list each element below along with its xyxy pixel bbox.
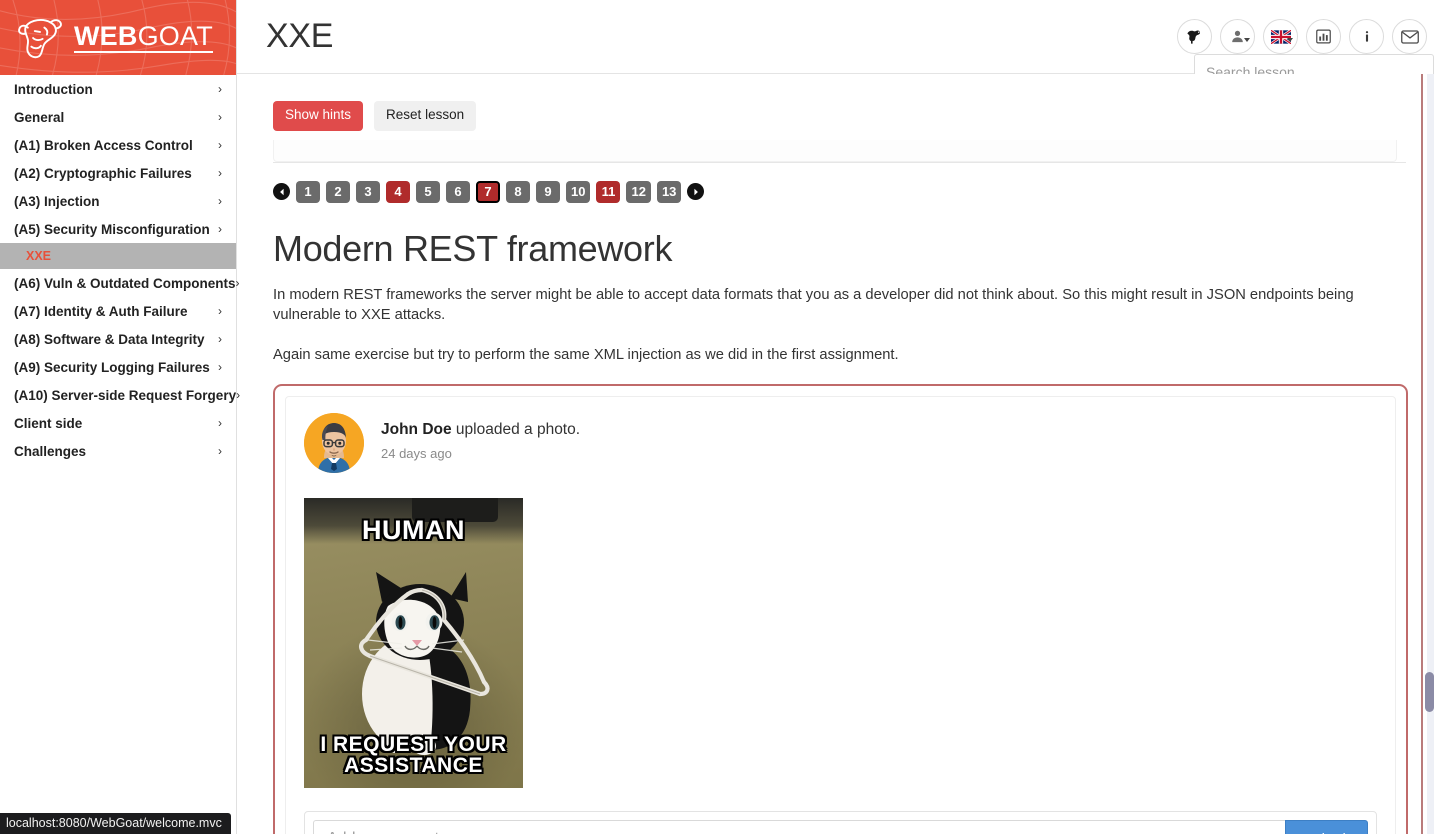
sidebar-item-general[interactable]: General› [0, 103, 236, 131]
contact-button[interactable] [1392, 19, 1427, 54]
sidebar-item-label: (A10) Server-side Request Forgery [14, 388, 236, 403]
right-rail [1427, 74, 1434, 834]
sidebar-item-a8-software-data-integrity[interactable]: (A8) Software & Data Integrity› [0, 325, 236, 353]
lesson-pagination: 12345678910111213 [273, 181, 1397, 203]
user-icon [1230, 29, 1245, 44]
language-menu-button[interactable] [1263, 19, 1298, 54]
sidebar-item-label: Client side [14, 416, 218, 431]
sidebar-item-label: General [14, 110, 218, 125]
sidebar-item-a1-broken-access-control[interactable]: (A1) Broken Access Control› [0, 131, 236, 159]
pagination-page-8[interactable]: 8 [506, 181, 530, 203]
pagination-page-13[interactable]: 13 [657, 181, 681, 203]
brand-web: WEB [74, 21, 138, 51]
brand-wordmark: WEBGOAT [74, 22, 213, 53]
sidebar-item-introduction[interactable]: Introduction› [0, 75, 236, 103]
page-title: XXE [266, 17, 333, 56]
sidebar-item-a6-vuln-outdated-components[interactable]: (A6) Vuln & Outdated Components› [0, 269, 236, 297]
goat-head-icon [14, 12, 66, 64]
post-action: uploaded a photo. [452, 421, 580, 438]
pagination-page-9[interactable]: 9 [536, 181, 560, 203]
sidebar-sub-label: XXE [26, 249, 51, 263]
top-header: XXE [237, 0, 1434, 74]
lesson-paragraph-1: In modern REST frameworks the server mig… [273, 285, 1397, 326]
chart-bar-icon [1315, 28, 1332, 45]
meme-bottom-line2: ASSISTANCE [304, 755, 523, 777]
chevron-down-icon [1287, 38, 1293, 42]
right-rail-accent-line [1421, 74, 1423, 834]
user-menu-button[interactable] [1220, 19, 1255, 54]
sidebar-item-a9-security-logging-failures[interactable]: (A9) Security Logging Failures› [0, 353, 236, 381]
sidebar: WEBGOAT Introduction›General›(A1) Broken… [0, 0, 237, 834]
chevron-right-icon: › [236, 388, 240, 402]
status-bar-url: localhost:8080/WebGoat/welcome.mvc [0, 813, 231, 834]
chevron-right-icon: › [218, 416, 222, 430]
info-icon [1360, 28, 1374, 45]
avatar [304, 413, 364, 473]
post-header: John Doe uploaded a photo. 24 days ago [304, 413, 1377, 473]
post-meta: John Doe uploaded a photo. 24 days ago [381, 413, 580, 461]
comment-input[interactable] [313, 820, 1285, 834]
sidebar-item-label: (A5) Security Misconfiguration [14, 222, 218, 237]
pagination-page-11[interactable]: 11 [596, 181, 620, 203]
chevron-right-icon: › [218, 332, 222, 346]
sidebar-item-challenges[interactable]: Challenges› [0, 437, 236, 465]
lesson-toolbar: Show hints Reset lesson [273, 101, 1397, 131]
chevron-right-icon: › [218, 110, 222, 124]
pagination-next-button[interactable] [687, 183, 704, 200]
sidebar-item-a7-identity-auth-failure[interactable]: (A7) Identity & Auth Failure› [0, 297, 236, 325]
comment-form: Submit [304, 811, 1377, 834]
sidebar-item-label: (A7) Identity & Auth Failure [14, 304, 218, 319]
reset-lesson-button[interactable]: Reset lesson [374, 101, 476, 131]
header-icon-group [1177, 19, 1427, 54]
chevron-right-icon: › [218, 166, 222, 180]
page-scrollbar-thumb[interactable] [1425, 672, 1434, 712]
sidebar-item-label: (A1) Broken Access Control [14, 138, 218, 153]
lesson-paragraph-2: Again same exercise but try to perform t… [273, 345, 1397, 365]
sidebar-item-a10-server-side-request-forgery[interactable]: (A10) Server-side Request Forgery› [0, 381, 236, 409]
hint-panel [273, 140, 1397, 162]
show-hints-button[interactable]: Show hints [273, 101, 363, 131]
meme-top-text: HUMAN [304, 517, 523, 545]
goat-icon [1185, 27, 1204, 46]
post-image-meme: HUMAN I REQUEST YOUR ASSISTANCE [304, 498, 523, 788]
meme-bottom-text: I REQUEST YOUR ASSISTANCE [304, 734, 523, 777]
goat-icon-button[interactable] [1177, 19, 1212, 54]
sidebar-item-label: Introduction [14, 82, 218, 97]
pagination-page-4[interactable]: 4 [386, 181, 410, 203]
sidebar-item-label: (A3) Injection [14, 194, 218, 209]
envelope-icon [1401, 30, 1419, 44]
sidebar-item-label: (A8) Software & Data Integrity [14, 332, 218, 347]
chevron-right-icon: › [236, 276, 240, 290]
scoreboard-button[interactable] [1306, 19, 1341, 54]
brand-header[interactable]: WEBGOAT [0, 0, 236, 75]
post-author: John Doe [381, 421, 452, 438]
chevron-right-icon: › [218, 82, 222, 96]
pagination-page-2[interactable]: 2 [326, 181, 350, 203]
sidebar-item-a2-cryptographic-failures[interactable]: (A2) Cryptographic Failures› [0, 159, 236, 187]
chevron-right-icon: › [218, 194, 222, 208]
chevron-right-icon: › [218, 360, 222, 374]
arrow-left-icon [278, 188, 286, 196]
chevron-down-icon [1244, 38, 1250, 42]
submit-comment-button[interactable]: Submit [1285, 820, 1368, 834]
sidebar-item-a3-injection[interactable]: (A3) Injection› [0, 187, 236, 215]
sidebar-item-a5-security-misconfiguration[interactable]: (A5) Security Misconfiguration› [0, 215, 236, 243]
chevron-right-icon: › [218, 444, 222, 458]
content-divider [273, 162, 1406, 163]
chevron-right-icon: › [218, 222, 222, 236]
arrow-right-icon [692, 188, 700, 196]
lesson-title: Modern REST framework [273, 228, 1397, 270]
sidebar-nav: Introduction›General›(A1) Broken Access … [0, 75, 236, 465]
sidebar-item-xxe[interactable]: XXE [0, 243, 236, 269]
chevron-right-icon: › [218, 138, 222, 152]
lesson-content: Show hints Reset lesson 1234567891011121… [237, 74, 1427, 834]
about-button[interactable] [1349, 19, 1384, 54]
social-post: John Doe uploaded a photo. 24 days ago [285, 396, 1396, 834]
user-avatar-photo [304, 413, 364, 473]
pagination-page-10[interactable]: 10 [566, 181, 590, 203]
brand-goat: GOAT [138, 21, 213, 51]
meme-bottom-line1: I REQUEST YOUR [304, 734, 523, 756]
pagination-page-6[interactable]: 6 [446, 181, 470, 203]
sidebar-item-label: (A2) Cryptographic Failures [14, 166, 218, 181]
pagination-page-1[interactable]: 1 [296, 181, 320, 203]
sidebar-item-label: (A6) Vuln & Outdated Components [14, 276, 236, 291]
sidebar-item-label: (A9) Security Logging Failures [14, 360, 218, 375]
post-author-line: John Doe uploaded a photo. [381, 421, 580, 439]
pagination-page-12[interactable]: 12 [626, 181, 650, 203]
social-feed-card: John Doe uploaded a photo. 24 days ago [273, 384, 1408, 834]
sidebar-item-client-side[interactable]: Client side› [0, 409, 236, 437]
post-timestamp: 24 days ago [381, 446, 580, 461]
chevron-right-icon: › [218, 304, 222, 318]
pagination-page-5[interactable]: 5 [416, 181, 440, 203]
sidebar-item-label: Challenges [14, 444, 218, 459]
pagination-prev-button[interactable] [273, 183, 290, 200]
pagination-page-7[interactable]: 7 [476, 181, 500, 203]
pagination-page-3[interactable]: 3 [356, 181, 380, 203]
